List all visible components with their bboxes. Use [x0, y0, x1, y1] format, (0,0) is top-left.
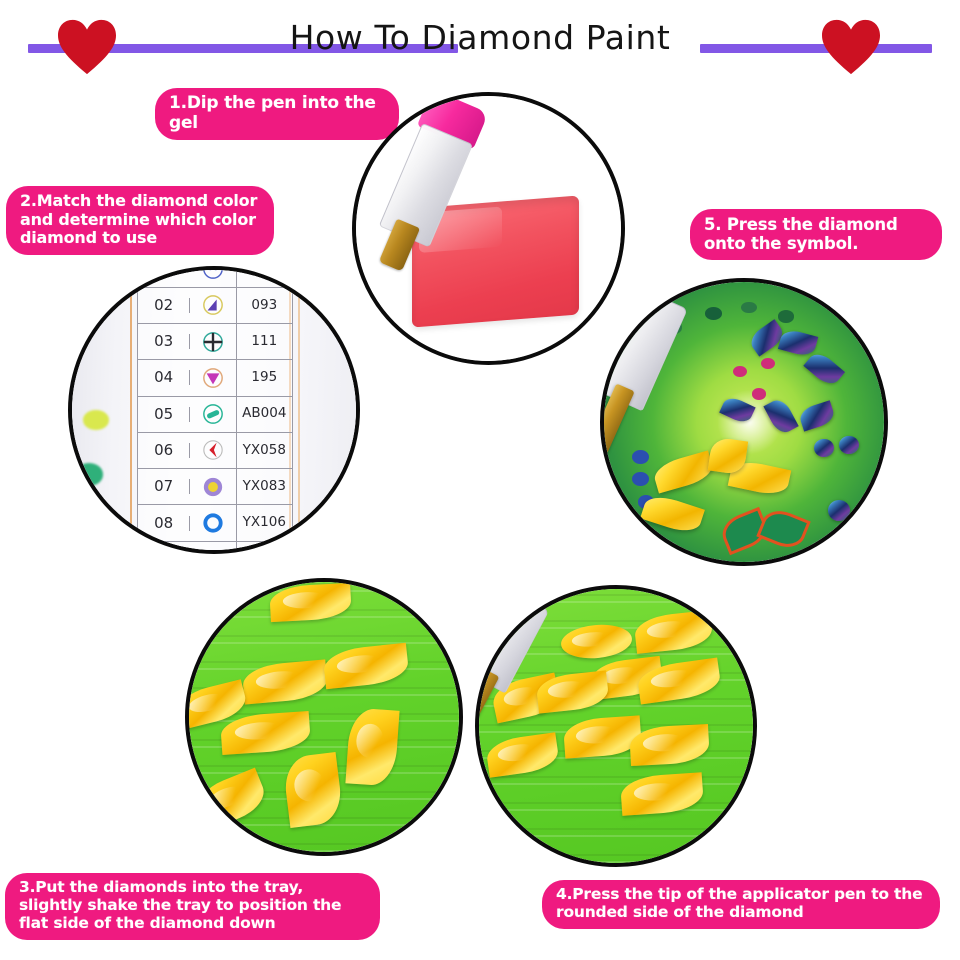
step-1-label: 1.Dip the pen into the gel — [155, 88, 399, 140]
chart-row-code: AB004 — [237, 407, 292, 421]
step-5-photo — [600, 278, 888, 566]
color-chart-table: 02802093031110419505AB00406YX05807YX0830… — [137, 270, 292, 550]
chart-row-code: 028 — [237, 270, 292, 276]
diamond-yellow — [652, 451, 716, 494]
capsule-icon — [190, 397, 237, 432]
color-chart-row: 09YX125 — [138, 542, 291, 550]
canvas-symbol — [705, 307, 722, 320]
step-3-label: 3.Put the diamonds into the tray, slight… — [5, 873, 380, 940]
color-chart-row: 06YX058 — [138, 433, 291, 469]
chart-row-number: 02 — [138, 298, 190, 313]
step-2-photo: 02802093031110419505AB00406YX05807YX0830… — [68, 266, 360, 554]
canvas-symbol — [778, 310, 795, 323]
chart-row-code: YX106 — [237, 516, 292, 530]
diamond — [839, 436, 859, 454]
color-chart-row: 05AB004 — [138, 397, 291, 433]
chart-row-number: 07 — [138, 479, 190, 494]
chart-row-code: 111 — [237, 335, 292, 349]
plus-cross-icon — [190, 324, 237, 359]
chart-row-code: 195 — [237, 371, 292, 385]
diamond — [797, 401, 836, 433]
color-chart-row: 08YX106 — [138, 505, 291, 541]
color-chart-row: 03111 — [138, 324, 291, 360]
canvas-edge — [298, 270, 300, 550]
diamond — [814, 439, 834, 457]
chart-row-code: YX083 — [237, 480, 292, 494]
filled-dot-ring-icon — [190, 469, 237, 504]
applicator-pen — [604, 290, 686, 451]
infographic-page: How To Diamond Paint 1.Dip the pen into … — [0, 0, 960, 960]
open-ring-icon — [190, 505, 237, 540]
canvas-symbol — [733, 366, 747, 377]
chart-row-number: 05 — [138, 407, 190, 422]
color-chart-row: 028 — [138, 270, 291, 288]
canvas-print-blob — [75, 463, 103, 485]
chart-row-number: 03 — [138, 334, 190, 349]
canvas-print-blob — [83, 410, 109, 430]
canvas-symbol — [761, 358, 775, 369]
diamond — [763, 396, 799, 436]
chart-row-number: 04 — [138, 370, 190, 385]
chart-row-code: 093 — [237, 299, 292, 313]
canvas-symbol — [632, 450, 649, 464]
step-3-photo — [185, 578, 463, 856]
canvas-leaf-symbol — [756, 504, 811, 552]
canvas-symbol — [752, 388, 766, 399]
diamond — [803, 349, 845, 390]
canvas-symbol — [741, 302, 756, 313]
step-5-label: 5. Press the diamond onto the symbol. — [690, 209, 942, 260]
chart-row-number: 06 — [138, 443, 190, 458]
color-chart-row: 02093 — [138, 288, 291, 324]
step-4-photo — [475, 585, 757, 867]
page-title: How To Diamond Paint — [0, 18, 960, 57]
chart-row-number: 08 — [138, 516, 190, 531]
triangle-flag-icon — [190, 360, 237, 395]
step-2-label: 2.Match the diamond color and determine … — [6, 186, 274, 255]
step-4-label: 4.Press the tip of the applicator pen to… — [542, 880, 940, 929]
left-arrow-icon — [190, 433, 237, 468]
quarter-wedge-icon — [190, 288, 237, 323]
color-chart-row: 07YX083 — [138, 469, 291, 505]
step-1-photo — [352, 92, 625, 365]
chart-row-code: YX058 — [237, 444, 292, 458]
diamond — [719, 394, 755, 425]
leaf-marquise-icon — [190, 542, 237, 550]
diamond — [828, 500, 850, 521]
color-chart-row: 04195 — [138, 360, 291, 396]
canvas-edge — [130, 270, 132, 550]
diamond-yellow — [640, 492, 705, 537]
page-header: How To Diamond Paint — [0, 0, 960, 80]
double-dot-circle-icon — [190, 270, 237, 287]
canvas-symbol — [632, 472, 649, 486]
